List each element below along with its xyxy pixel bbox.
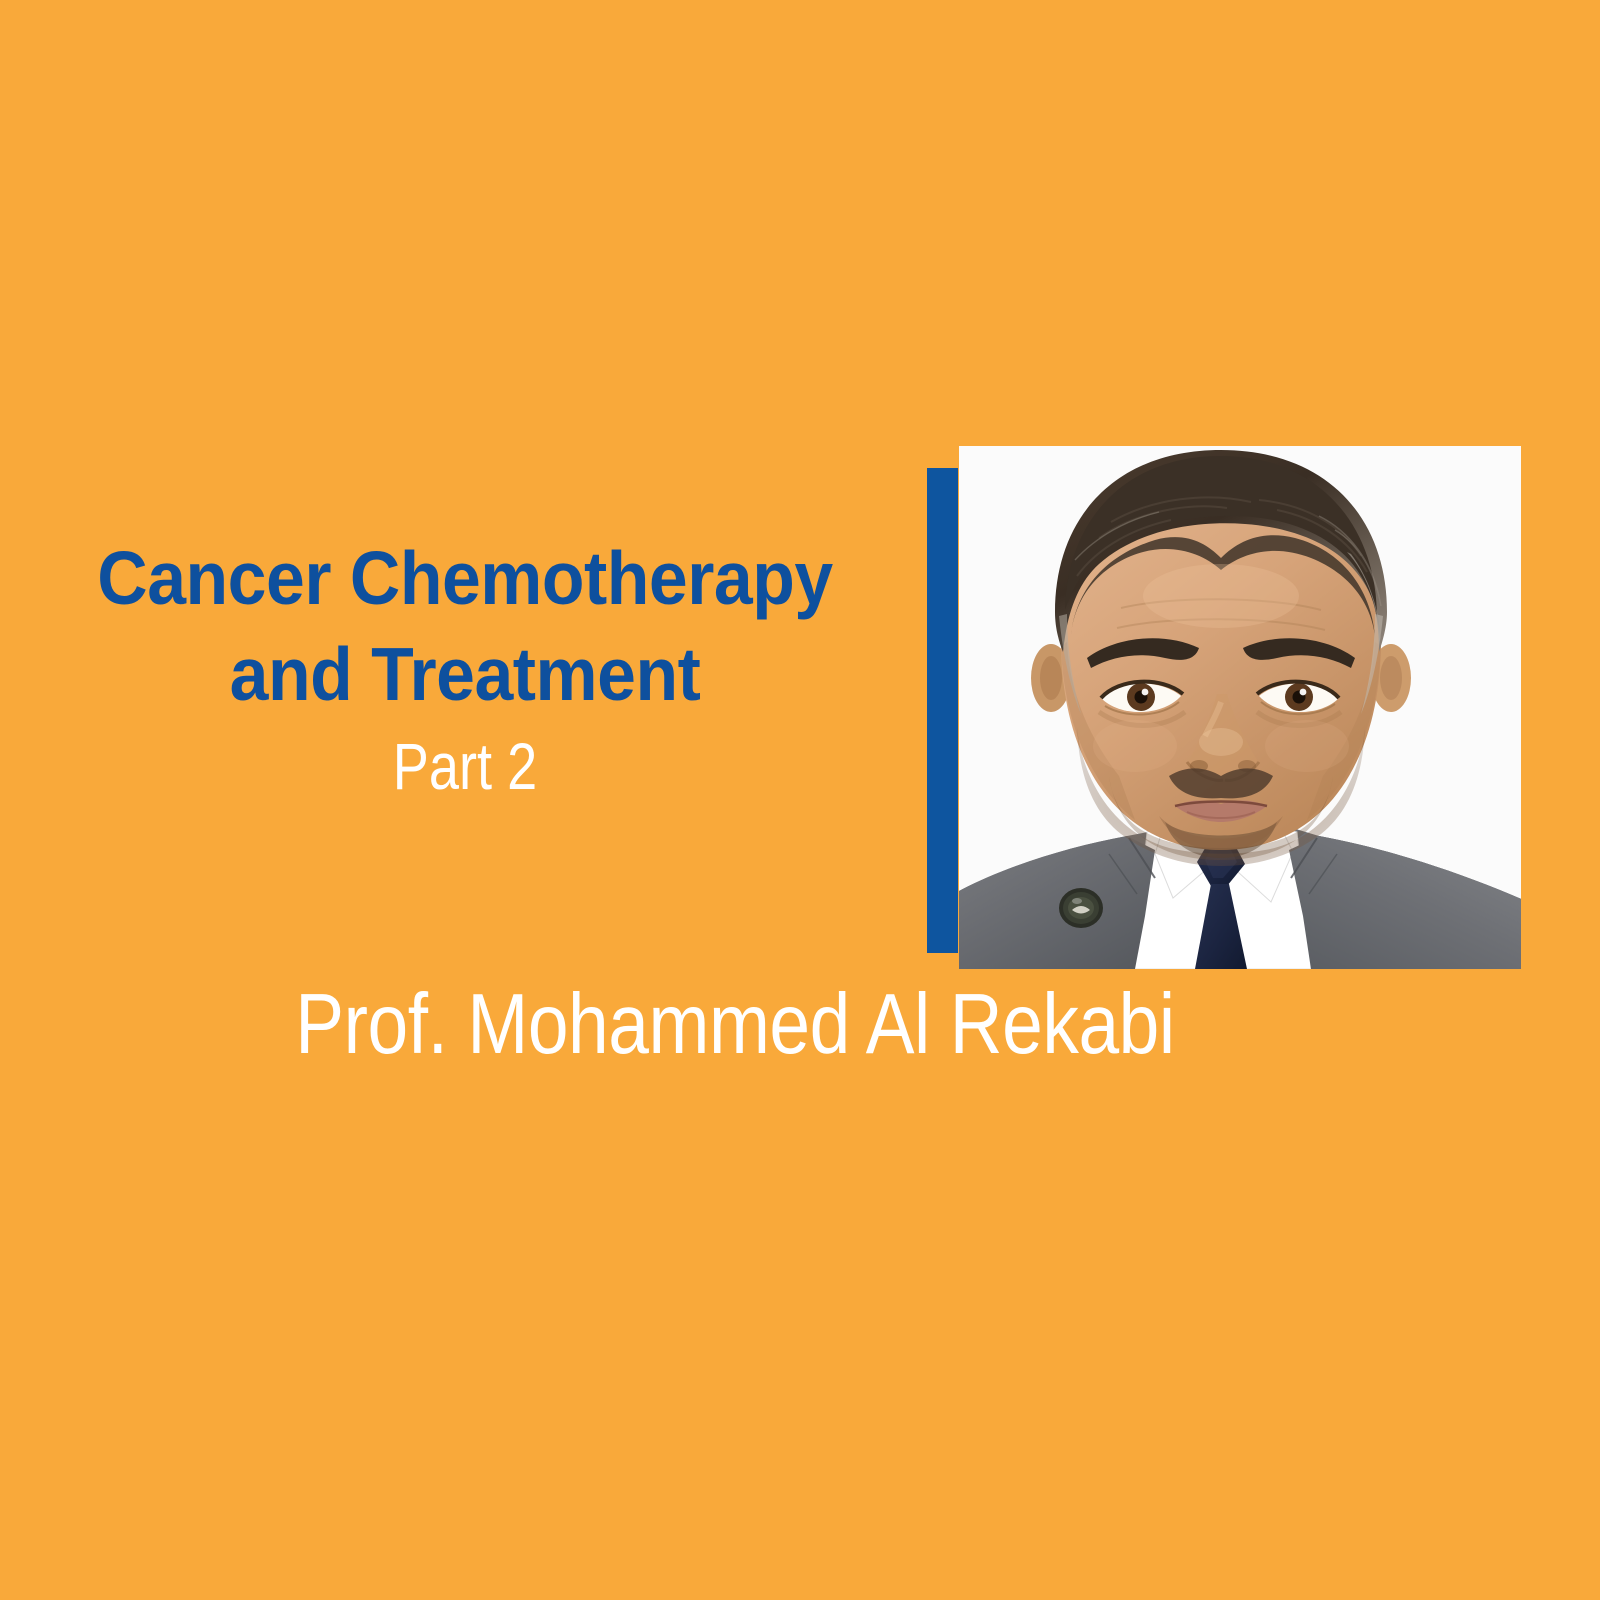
portrait-illustration	[959, 446, 1521, 969]
blue-accent-bar	[927, 468, 958, 953]
presenter-name: Prof. Mohammed Al Rekabi	[103, 975, 1367, 1075]
presenter-photo	[959, 446, 1521, 969]
photo-inner	[959, 446, 1521, 969]
title-line-2: and Treatment	[33, 626, 898, 722]
title-line-1: Cancer Chemotherapy	[33, 530, 898, 626]
title-slide: Cancer Chemotherapy and Treatment Part 2…	[0, 0, 1600, 1600]
title-block: Cancer Chemotherapy and Treatment Part 2	[0, 530, 930, 808]
part-subtitle: Part 2	[84, 724, 847, 808]
